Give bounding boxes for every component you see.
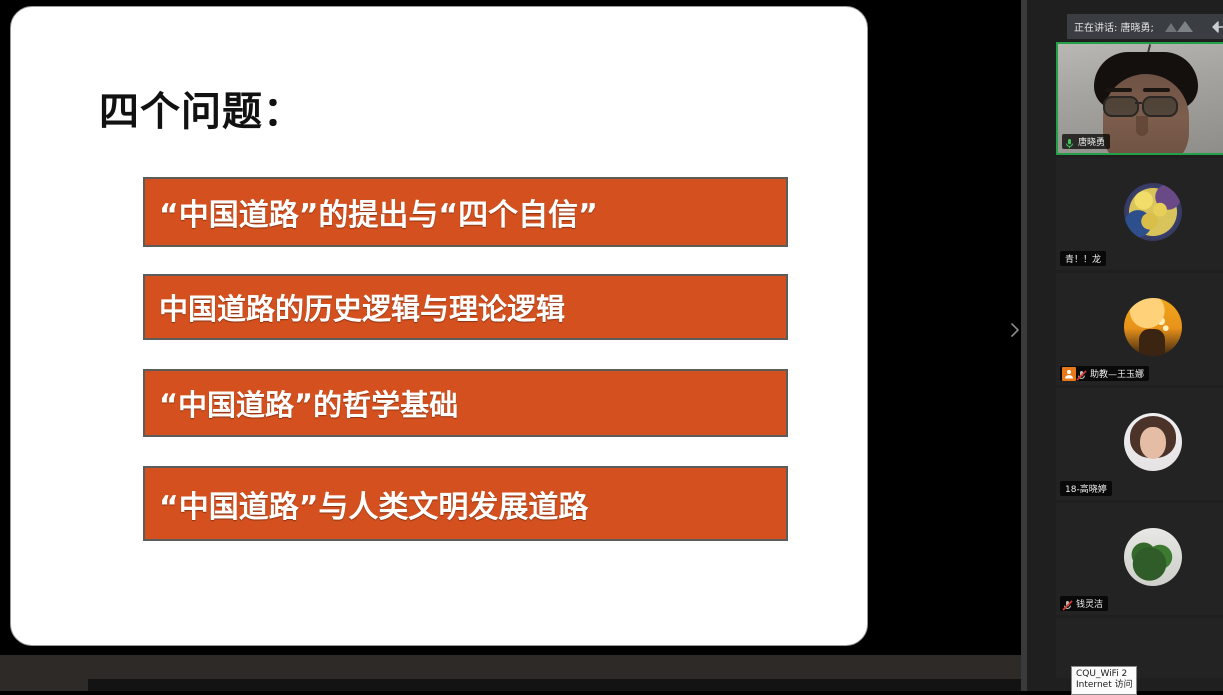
avatar <box>1124 413 1182 471</box>
participant-name-chip: 唐晓勇 <box>1062 134 1110 149</box>
slide-bullet-2: 中国道路的历史逻辑与理论逻辑 <box>143 274 788 340</box>
participant-name: 18-高晓婷 <box>1065 482 1107 495</box>
desktop-taskbar <box>88 679 1073 691</box>
avatar <box>1124 183 1182 241</box>
participant-name-chip: 18-高晓婷 <box>1060 481 1112 496</box>
screen-root: 四个问题： “中国道路”的提出与“四个自信” 中国道路的历史逻辑与理论逻辑 “中… <box>0 0 1223 691</box>
participant-name: 助教—王玉娜 <box>1090 367 1144 380</box>
participant-tile-2[interactable]: 青！！龙 <box>1056 158 1223 270</box>
arrow-left-icon[interactable] <box>1212 20 1223 34</box>
slide-bullet-4: “中国道路”与人类文明发展道路 <box>143 466 788 541</box>
mic-muted-icon <box>1062 598 1073 609</box>
video-glasses-right <box>1142 96 1178 117</box>
slide-bullet-1: “中国道路”的提出与“四个自信” <box>143 177 788 247</box>
active-speaker-banner: 正在讲话: 唐晓勇; <box>1067 14 1223 39</box>
active-speaker-label: 正在讲话: 唐晓勇; <box>1074 19 1154 34</box>
video-nose <box>1136 116 1148 136</box>
video-brow-right <box>1143 88 1170 92</box>
video-glasses-bridge <box>1135 102 1142 104</box>
host-icon <box>1062 367 1076 381</box>
participant-name: 唐晓勇 <box>1078 135 1105 148</box>
participant-name-chip: 青！！龙 <box>1060 251 1106 266</box>
mic-on-icon <box>1064 136 1075 147</box>
participant-tile-1[interactable]: 唐晓勇 <box>1056 42 1223 155</box>
participant-name: 青！！龙 <box>1065 252 1101 265</box>
shared-screen-stage: 四个问题： “中国道路”的提出与“四个自信” 中国道路的历史逻辑与理论逻辑 “中… <box>0 0 1025 655</box>
avatar <box>1124 528 1182 586</box>
slide-bullet-3: “中国道路”的哲学基础 <box>143 369 788 437</box>
audio-wave-icon <box>1164 20 1198 34</box>
mic-muted-icon <box>1076 368 1087 379</box>
participant-filmstrip: 正在讲话: 唐晓勇; <box>1027 0 1223 691</box>
slide-bullet-4-text: “中国道路”与人类文明发展道路 <box>145 482 588 526</box>
participant-tile-3[interactable]: 助教—王玉娜 <box>1056 273 1223 385</box>
avatar <box>1124 298 1182 356</box>
participant-tile-5[interactable]: 钱灵洁 <box>1056 503 1223 615</box>
slide-bullet-1-text: “中国道路”的提出与“四个自信” <box>145 190 598 234</box>
wifi-ssid: CQU_WiFi 2 <box>1076 669 1132 680</box>
video-brow-left <box>1105 88 1132 92</box>
participant-tile-4[interactable]: 18-高晓婷 <box>1056 388 1223 500</box>
participant-name-chip: 钱灵洁 <box>1060 596 1108 611</box>
participant-name: 钱灵洁 <box>1076 597 1103 610</box>
slide-bullet-3-text: “中国道路”的哲学基础 <box>145 382 458 424</box>
video-glasses-left <box>1103 96 1139 117</box>
slide-title: 四个问题： <box>99 79 304 137</box>
participant-name-chip: 助教—王玉娜 <box>1060 366 1149 381</box>
presentation-slide: 四个问题： “中国道路”的提出与“四个自信” 中国道路的历史逻辑与理论逻辑 “中… <box>10 6 868 646</box>
wifi-status: Internet 访问 <box>1076 680 1132 691</box>
slide-bullet-2-text: 中国道路的历史逻辑与理论逻辑 <box>145 286 565 328</box>
chevron-right-icon <box>1010 322 1020 338</box>
